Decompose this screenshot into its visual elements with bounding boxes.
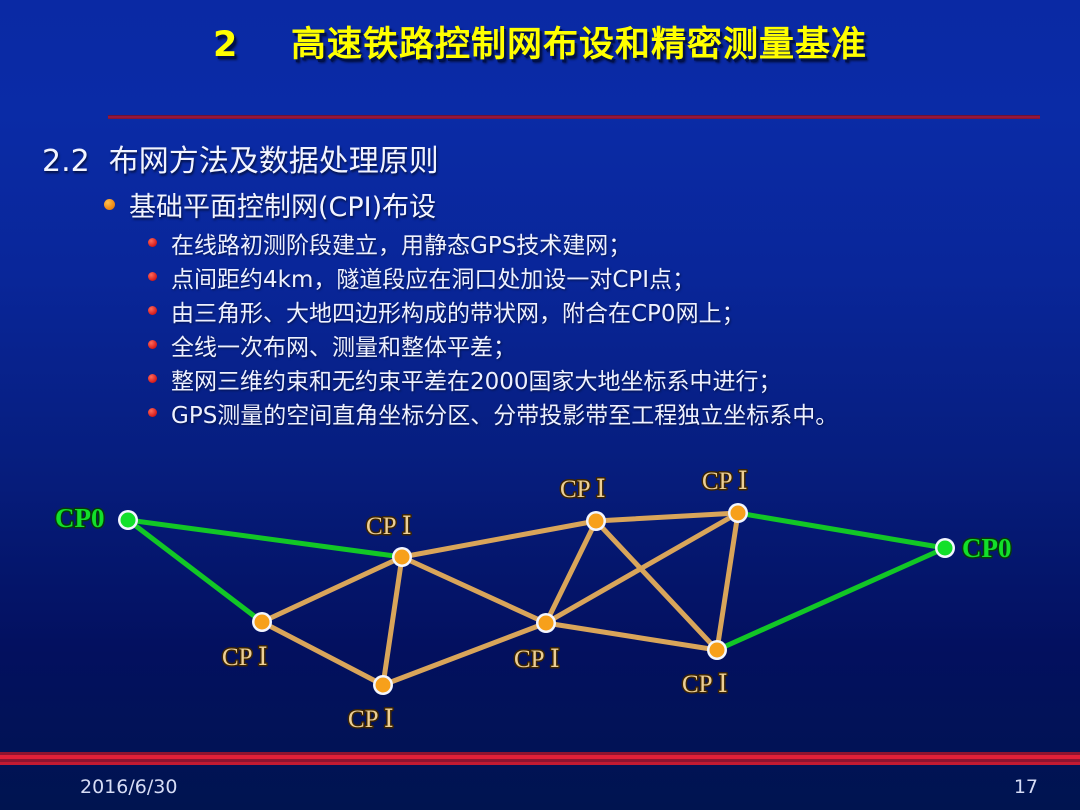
network-edge: [402, 521, 596, 557]
network-edge: [262, 557, 402, 622]
footer-rule-line: [0, 762, 1080, 765]
network-edge: [738, 513, 945, 548]
list-item-label: 全线一次布网、测量和整体平差；: [171, 328, 516, 362]
network-node-cp1[interactable]: [731, 506, 746, 521]
cp1-node-label: CP Ⅰ: [366, 513, 412, 540]
title-divider: [108, 115, 1040, 119]
bullet-marker-icon: [148, 374, 157, 383]
network-edge: [383, 557, 402, 685]
network-node-cp1[interactable]: [710, 643, 725, 658]
network-edge: [596, 513, 738, 521]
footer: 2016/6/30 17: [0, 770, 1080, 810]
network-node-cp1[interactable]: [539, 616, 554, 631]
list-item: GPS测量的空间直角坐标分区、分带投影带至工程独立坐标系中。: [148, 396, 1048, 430]
cp0-node-label: CP0: [55, 503, 105, 533]
cpi-control-network-diagram: CP0CP ⅠCP ⅠCP ⅠCP ⅠCP ⅠCP ⅠCP ⅠCP0: [0, 455, 1080, 745]
list-item-label: GPS测量的空间直角坐标分区、分带投影带至工程独立坐标系中。: [171, 396, 838, 430]
title-bar: 2 高速铁路控制网布设和精密测量基准: [0, 16, 1080, 86]
bullet-marker-icon: [148, 272, 157, 281]
network-graphic: CP0CP ⅠCP ⅠCP ⅠCP ⅠCP ⅠCP ⅠCP ⅠCP0: [0, 455, 1080, 745]
cp1-node-label: CP Ⅰ: [682, 671, 728, 698]
level1-bullet-row: 基础平面控制网(CPⅠ)布设: [104, 185, 436, 224]
network-edge: [717, 513, 738, 650]
footer-date: 2016/6/30: [80, 776, 177, 798]
network-edge: [717, 548, 945, 650]
cp1-node-label: CP Ⅰ: [222, 644, 268, 671]
network-node-cp1[interactable]: [255, 615, 270, 630]
list-item: 在线路初测阶段建立，用静态GPS技术建网；: [148, 226, 1048, 260]
list-item: 由三角形、大地四边形构成的带状网，附合在CP0网上；: [148, 294, 1048, 328]
cp1-node-label: CP Ⅰ: [348, 706, 394, 733]
network-edge: [262, 622, 383, 685]
list-item: 点间距约4km，隧道段应在洞口处加设一对CPⅠ点；: [148, 260, 1048, 294]
level1-bullet-label: 基础平面控制网(CPⅠ)布设: [129, 185, 436, 224]
page-number: 17: [1014, 776, 1038, 798]
network-node-cp1[interactable]: [589, 514, 604, 529]
list-item-label: 点间距约4km，隧道段应在洞口处加设一对CPⅠ点；: [171, 260, 695, 294]
footer-divider: [0, 752, 1080, 765]
bullet-marker-icon: [148, 306, 157, 315]
cp1-node-label: CP Ⅰ: [514, 646, 560, 673]
network-node-cp0[interactable]: [938, 541, 953, 556]
list-item-label: 由三角形、大地四边形构成的带状网，附合在CP0网上；: [171, 294, 745, 328]
bullet-marker-icon: [148, 408, 157, 417]
list-item-label: 在线路初测阶段建立，用静态GPS技术建网；: [171, 226, 631, 260]
network-node-cp1[interactable]: [376, 678, 391, 693]
page-title: 2 高速铁路控制网布设和精密测量基准: [213, 16, 867, 67]
cp1-node-label: CP Ⅰ: [560, 476, 606, 503]
network-node-cp1[interactable]: [395, 550, 410, 565]
bullet-marker-icon: [104, 199, 115, 210]
network-edge: [402, 557, 546, 623]
cp1-node-label: CP Ⅰ: [702, 468, 748, 495]
cp0-node-label: CP0: [962, 533, 1012, 563]
bullet-marker-icon: [148, 238, 157, 247]
network-edge: [546, 623, 717, 650]
network-node-cp0[interactable]: [121, 513, 136, 528]
network-node-labels: CP0CP ⅠCP ⅠCP ⅠCP ⅠCP ⅠCP ⅠCP ⅠCP0: [55, 468, 1012, 733]
list-item: 整网三维约束和无约束平差在2000国家大地坐标系中进行；: [148, 362, 1048, 396]
bullet-marker-icon: [148, 340, 157, 349]
section-heading: 2.2 布网方法及数据处理原则: [42, 136, 439, 180]
list-item-label: 整网三维约束和无约束平差在2000国家大地坐标系中进行；: [171, 362, 782, 396]
slide: 2 高速铁路控制网布设和精密测量基准 2.2 布网方法及数据处理原则 基础平面控…: [0, 0, 1080, 810]
list-item: 全线一次布网、测量和整体平差；: [148, 328, 1048, 362]
level2-bullet-list: 在线路初测阶段建立，用静态GPS技术建网； 点间距约4km，隧道段应在洞口处加设…: [148, 226, 1048, 430]
